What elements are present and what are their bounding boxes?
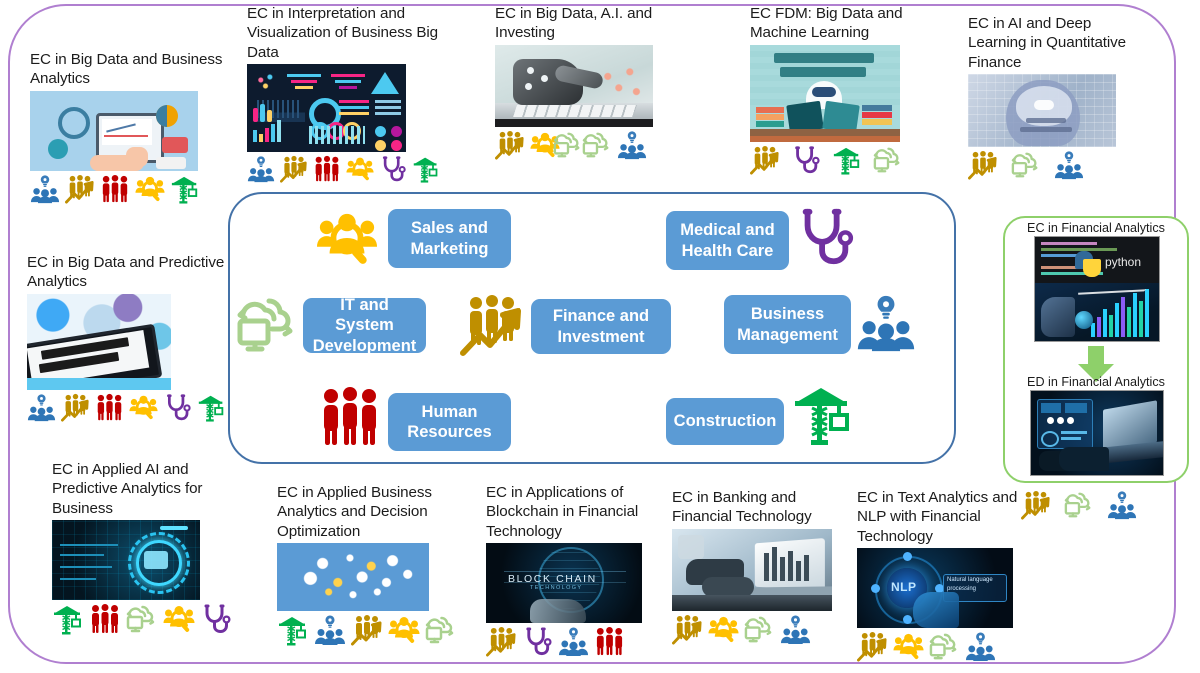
- chip-label: Construction: [674, 411, 777, 431]
- chip-label: Sales and Marketing: [394, 218, 505, 258]
- fin-ec-label: EC in Financial Analytics: [1012, 221, 1180, 236]
- program-card-applied-ai-predictive-business[interactable]: EC in Applied AI and Predictive Analytic…: [52, 460, 252, 635]
- human-resources-icon: [313, 155, 341, 183]
- it-cloud-monitor-icon: [553, 130, 583, 160]
- sales-marketing-icon: [388, 614, 420, 646]
- program-title: EC in Big Data and Predictive Analytics: [27, 253, 227, 292]
- program-card-interpretation-visualization[interactable]: EC in Interpretation and Visualization o…: [247, 4, 452, 183]
- program-thumbnail: [247, 64, 406, 152]
- program-thumbnail: [52, 520, 200, 600]
- finance-growth-icon: [672, 614, 703, 645]
- program-thumbnail: BLOCK CHAIN TECHNOLOGY: [486, 543, 642, 623]
- program-icon-row: [247, 155, 452, 183]
- stethoscope-icon: [794, 206, 856, 273]
- program-title: EC in Applied Business Analytics and Dec…: [277, 483, 477, 541]
- program-card-big-data-business-analytics[interactable]: EC in Big Data and Business Analytics: [30, 50, 230, 204]
- program-icon-row: [27, 393, 227, 422]
- construction-crane-icon: [197, 393, 226, 422]
- chip-label: Human Resources: [394, 402, 505, 442]
- business-management-icon: [27, 393, 56, 422]
- finance-growth-icon: [495, 130, 525, 160]
- chip-label: IT and System Development: [309, 295, 420, 355]
- business-management-icon: [558, 626, 589, 657]
- category-chip-human-resources[interactable]: Human Resources: [388, 393, 511, 451]
- construction-crane-icon: [791, 382, 855, 451]
- fin-icon-row: [1021, 490, 1137, 520]
- program-thumbnail: [750, 45, 900, 142]
- program-thumbnail: [277, 543, 429, 611]
- human-resources-icon: [100, 174, 130, 204]
- business-management-icon: [30, 174, 60, 204]
- program-icon-row: [30, 174, 230, 204]
- construction-crane-icon: [412, 155, 440, 183]
- stethoscope-icon: [379, 155, 407, 183]
- finance-growth-icon: [351, 614, 383, 646]
- business-management-icon: [1054, 150, 1084, 180]
- category-chip-sales-and-marketing[interactable]: Sales and Marketing: [388, 209, 511, 268]
- program-icon-row: [486, 626, 661, 657]
- program-icon-row: [750, 145, 950, 175]
- program-card-text-analytics-nlp-fintech[interactable]: EC in Text Analytics and NLP with Financ…: [857, 488, 1037, 662]
- business-management-icon: [617, 130, 647, 160]
- sales-marketing-icon: [346, 155, 374, 183]
- sales-marketing-icon: [708, 614, 739, 645]
- finance-growth-icon: [750, 145, 780, 175]
- finance-growth-icon: [61, 393, 90, 422]
- finance-growth-icon: [486, 626, 517, 657]
- sales-marketing-icon: [316, 208, 378, 275]
- it-cloud-monitor-icon: [236, 293, 300, 362]
- it-cloud-monitor-icon: [873, 145, 903, 175]
- construction-crane-icon: [52, 603, 84, 635]
- program-icon-row: [857, 631, 1037, 662]
- program-title: EC in Big Data, A.I. and Investing: [495, 4, 695, 43]
- fin-ed-label: ED in Financial Analytics: [1012, 375, 1180, 390]
- category-chip-construction[interactable]: Construction: [666, 398, 784, 445]
- program-card-banking-financial-technology[interactable]: EC in Banking and Financial Technology: [672, 488, 857, 645]
- fin-ec-thumbnail: python: [1034, 236, 1160, 342]
- chip-label: Business Management: [730, 304, 845, 344]
- program-card-fdm-big-data-machine-learning[interactable]: EC FDM: Big Data and Machine Learning: [750, 4, 950, 175]
- business-management-icon: [780, 614, 811, 645]
- it-cloud-monitor-icon: [929, 631, 960, 662]
- business-management-icon: [247, 155, 275, 183]
- program-title: EC in Text Analytics and NLP with Financ…: [857, 488, 1037, 546]
- program-title: EC in Applied AI and Predictive Analytic…: [52, 460, 252, 518]
- finance-growth-icon: [968, 150, 998, 180]
- program-title: EC in Applications of Blockchain in Fina…: [486, 483, 661, 541]
- program-title: EC in AI and Deep Learning in Quantitati…: [968, 14, 1153, 72]
- business-management-icon: [1107, 490, 1137, 520]
- finance-growth-icon: [460, 293, 524, 362]
- human-resources-icon: [89, 603, 121, 635]
- sales-marketing-icon: [163, 603, 195, 635]
- sales-marketing-icon: [129, 393, 158, 422]
- program-title: EC in Banking and Financial Technology: [672, 488, 857, 527]
- category-chip-business-management[interactable]: Business Management: [724, 295, 851, 354]
- construction-crane-icon: [170, 174, 200, 204]
- human-resources-icon: [318, 385, 382, 454]
- stethoscope-icon: [163, 393, 192, 422]
- program-card-big-data-ai-investing[interactable]: EC in Big Data, A.I. and Investing: [495, 4, 695, 160]
- program-thumbnail: NLP Natural language processing: [857, 548, 1013, 628]
- fin-ed-thumbnail: [1030, 390, 1164, 476]
- business-management-icon: [965, 631, 996, 662]
- program-thumbnail: [968, 74, 1116, 147]
- program-icon-row: [52, 603, 252, 635]
- program-thumbnail: [30, 91, 198, 171]
- program-thumbnail: [672, 529, 832, 611]
- stethoscope-icon: [200, 603, 232, 635]
- human-resources-icon: [95, 393, 124, 422]
- business-management-icon: [856, 293, 916, 358]
- program-icon-row: [672, 614, 857, 645]
- chip-label: Finance and Investment: [537, 306, 665, 346]
- program-card-big-data-predictive-analytics[interactable]: EC in Big Data and Predictive Analytics: [27, 253, 227, 422]
- program-icon-row: [495, 130, 695, 160]
- category-chip-medical-and-health-care[interactable]: Medical and Health Care: [666, 211, 789, 270]
- stethoscope-icon: [522, 626, 553, 657]
- business-management-icon: [314, 614, 346, 646]
- stethoscope-icon: [791, 145, 821, 175]
- category-chip-finance-and-investment[interactable]: Finance and Investment: [531, 299, 671, 354]
- program-title: EC in Interpretation and Visualization o…: [247, 4, 452, 62]
- program-card-applied-business-analytics-decision[interactable]: EC in Applied Business Analytics and Dec…: [277, 483, 477, 646]
- program-thumbnail: [27, 294, 171, 390]
- program-card-blockchain-fintech[interactable]: EC in Applications of Blockchain in Fina…: [486, 483, 661, 657]
- finance-growth-icon: [280, 155, 308, 183]
- finance-growth-icon: [857, 631, 888, 662]
- construction-crane-icon: [832, 145, 862, 175]
- chip-label: Medical and Health Care: [672, 220, 783, 260]
- program-thumbnail: [495, 45, 653, 127]
- sales-marketing-icon: [135, 174, 165, 204]
- it-cloud-monitor-icon: [425, 614, 457, 646]
- program-card-ai-deep-learning-quant-finance[interactable]: EC in AI and Deep Learning in Quantitati…: [968, 14, 1153, 180]
- it-cloud-monitor-icon: [582, 130, 612, 160]
- program-icon-row: [277, 614, 477, 646]
- finance-growth-icon: [65, 174, 95, 204]
- human-resources-icon: [594, 626, 625, 657]
- it-cloud-monitor-icon: [1064, 490, 1094, 520]
- category-chip-it-and-system-development[interactable]: IT and System Development: [303, 298, 426, 353]
- finance-growth-icon: [1021, 490, 1051, 520]
- construction-crane-icon: [277, 614, 309, 646]
- it-cloud-monitor-icon: [1011, 150, 1041, 180]
- program-title: EC FDM: Big Data and Machine Learning: [750, 4, 950, 43]
- program-title: EC in Big Data and Business Analytics: [30, 50, 230, 89]
- program-icon-row: [968, 150, 1153, 180]
- it-cloud-monitor-icon: [744, 614, 775, 645]
- sales-marketing-icon: [893, 631, 924, 662]
- it-cloud-monitor-icon: [126, 603, 158, 635]
